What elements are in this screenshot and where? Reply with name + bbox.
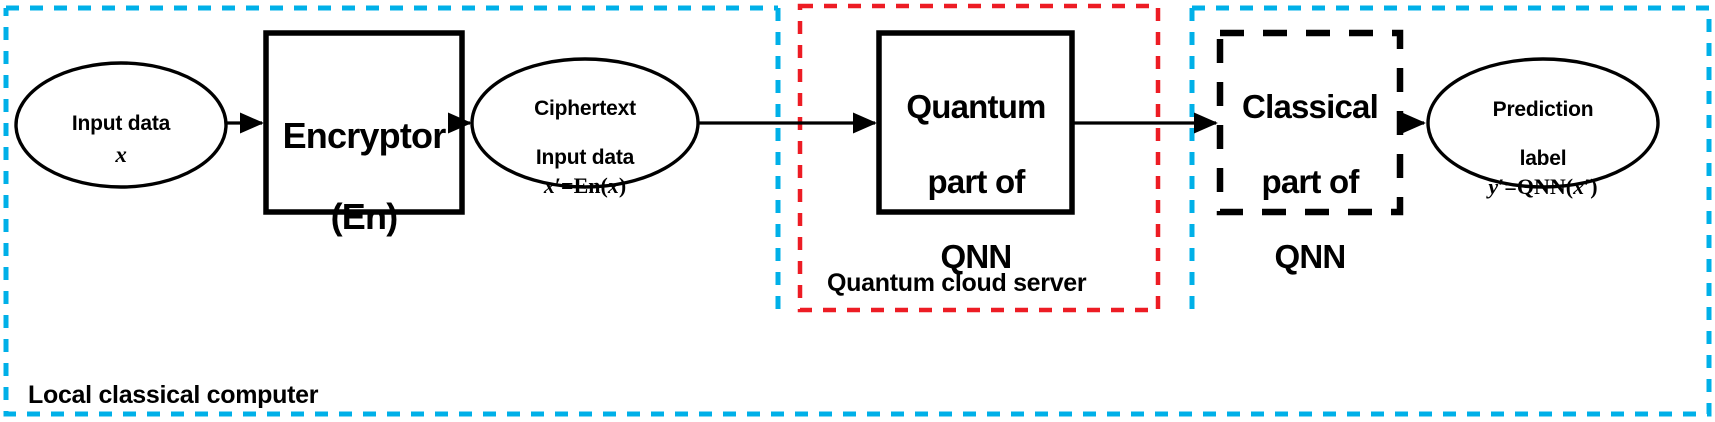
local-caption-text: Local classical computer — [28, 381, 318, 409]
node-ciphertext-input-data-label: Ciphertext Input data x′=En(x) — [478, 73, 692, 223]
region-quantum-cloud-server-caption: Quantum cloud server — [827, 240, 1147, 298]
encryptor-line1: Encryptor — [283, 115, 446, 156]
input-data-formula: x — [16, 142, 226, 169]
encryptor-line2: (En) — [331, 196, 398, 237]
prediction-formula-close: ) — [1590, 174, 1597, 199]
ciphertext-line2: Input data — [536, 146, 634, 169]
classical-line3: QNN — [1275, 238, 1346, 275]
ciphertext-formula-close: ) — [619, 173, 626, 198]
prediction-line2: label — [1520, 147, 1567, 170]
prediction-formula: y′=QNN(x′) — [1434, 174, 1652, 200]
quantum-line2: part of — [927, 163, 1024, 200]
prediction-formula-arg: x — [1573, 174, 1584, 199]
node-classical-part-of-qnn-label: Classical part of QNN — [1203, 50, 1417, 276]
node-input-data-label: Input data x — [16, 88, 226, 193]
region-local-classical-computer-caption: Local classical computer — [28, 352, 458, 410]
quantum-line1: Quantum — [906, 88, 1045, 125]
prediction-formula-lhs: y — [1488, 174, 1498, 199]
prediction-line1: Prediction — [1493, 98, 1594, 121]
prediction-formula-eq: =QNN( — [1504, 174, 1573, 199]
ciphertext-formula-arg: x — [608, 173, 619, 198]
input-data-line1: Input data — [72, 112, 170, 135]
cloud-caption-text: Quantum cloud server — [827, 269, 1086, 297]
ciphertext-formula: x′=En(x) — [478, 173, 692, 199]
classical-line1: Classical — [1242, 88, 1378, 125]
classical-line2: part of — [1261, 163, 1358, 200]
ciphertext-formula-lhs: x — [544, 173, 555, 198]
diagram-canvas: Input data x Encryptor (En) Ciphertext I… — [0, 0, 1715, 422]
ciphertext-line1: Ciphertext — [534, 97, 636, 120]
ciphertext-formula-eq: =En( — [561, 173, 608, 198]
node-prediction-label-label: Prediction label y′=QNN(x′) — [1434, 74, 1652, 224]
node-encryptor-label: Encryptor (En) — [258, 76, 470, 237]
